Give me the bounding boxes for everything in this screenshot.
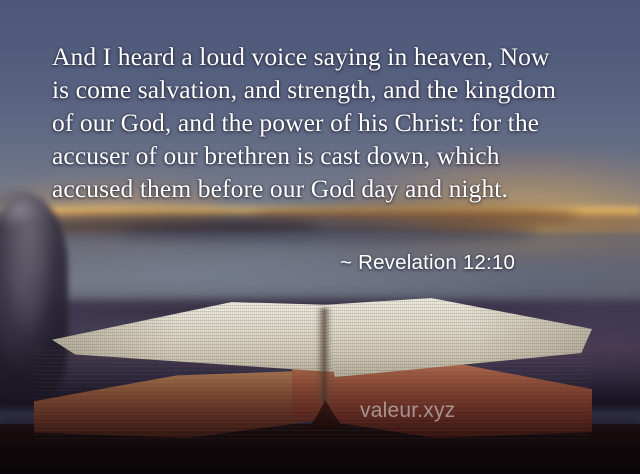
watermark-text: valeur.xyz: [360, 399, 455, 423]
quote-line: And I heard a loud voice saying in heave…: [52, 40, 600, 73]
quote-line: is come salvation, and strength, and the…: [52, 73, 600, 106]
open-book: [34, 292, 590, 442]
quote-line: of our God, and the power of his Christ:…: [52, 106, 600, 139]
verse-attribution: ~ Revelation 12:10: [340, 251, 515, 275]
quote-line: accused them before our God day and nigh…: [52, 172, 600, 205]
book-spine-gutter: [316, 308, 332, 404]
quote-line: accuser of our brethren is cast down, wh…: [52, 139, 600, 172]
scripture-quote-image: And I heard a loud voice saying in heave…: [0, 0, 640, 474]
scripture-quote-text: And I heard a loud voice saying in heave…: [52, 40, 600, 205]
book-edge-left: [34, 370, 330, 438]
